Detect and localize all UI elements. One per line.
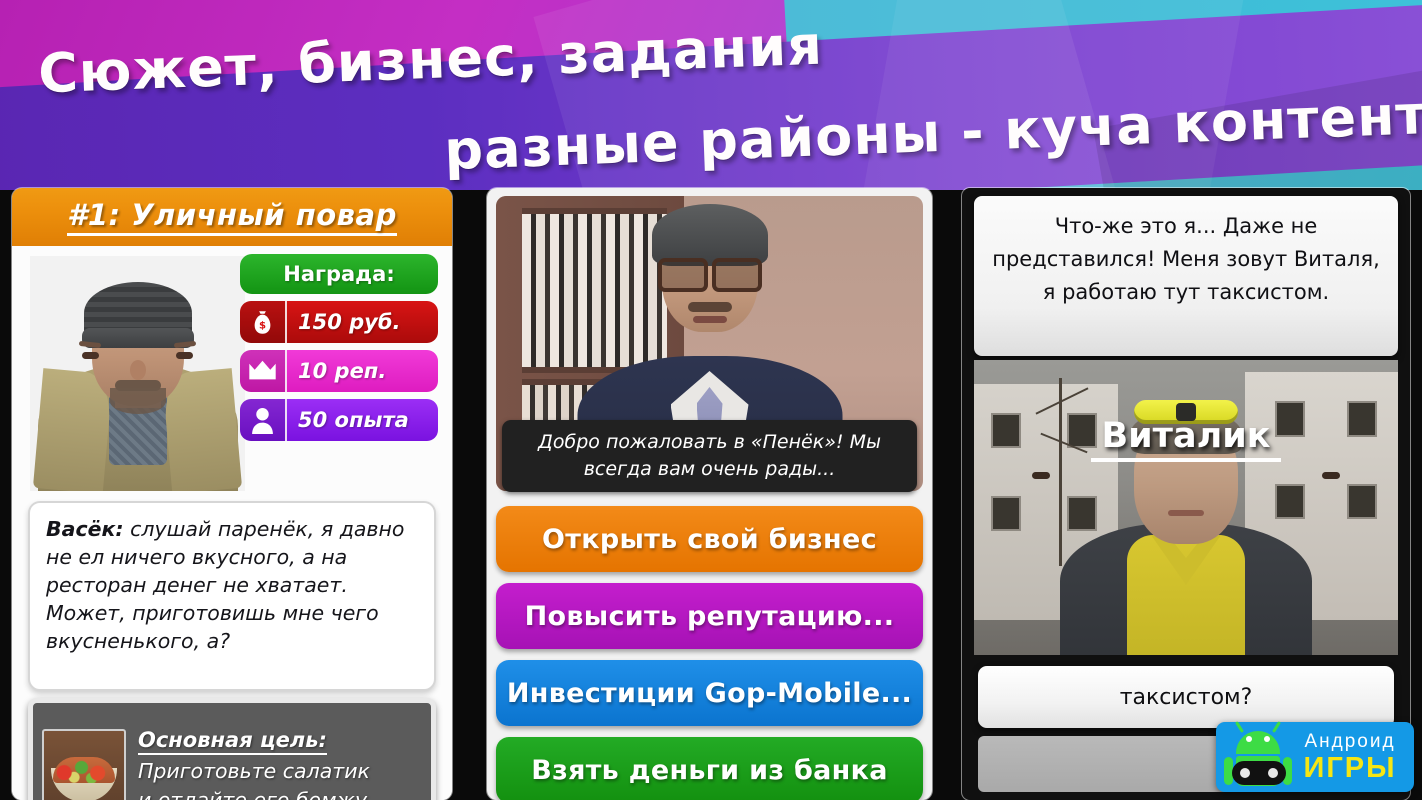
window <box>1275 484 1305 519</box>
banker-mouth <box>693 316 727 323</box>
character-nose <box>130 360 146 380</box>
character-beard <box>110 388 166 414</box>
quest-dialogue-speaker: Васёк: <box>46 517 124 541</box>
window <box>1347 484 1377 519</box>
bookshelf-row-1 <box>522 208 667 373</box>
banker-moustache <box>688 302 732 312</box>
reward-row-experience: 50 опыта <box>240 399 438 441</box>
reward-value-money: 150 руб. <box>287 310 438 334</box>
salad-bowl-icon <box>42 729 126 800</box>
reward-row-money: $ 150 руб. <box>240 301 438 343</box>
reward-value-reputation: 10 реп. <box>287 359 438 383</box>
watermark-line1: Андроид <box>1294 732 1406 751</box>
window <box>991 496 1021 531</box>
taxi-driver-photo <box>974 360 1398 655</box>
screenshot-panels: #1: Уличный повар <box>0 188 1422 800</box>
quest-goal-box: Основная цель: Приготовьте салатик и отд… <box>28 698 436 800</box>
taxi-panel-frame: Что-же это я... Даже не представился! Ме… <box>962 188 1410 800</box>
character-brow-left <box>79 341 101 348</box>
open-business-button[interactable]: Открыть свой бизнес <box>496 506 923 572</box>
android-robot-icon <box>1222 727 1294 787</box>
tree <box>1059 378 1062 567</box>
business-dialogue-bar: Добро пожаловать в «Пенёк»! Мы всегда ва… <box>502 420 917 492</box>
quest-goal-text: Основная цель: Приготовьте салатик и отд… <box>126 728 422 800</box>
watermark-line2: ИГРЫ <box>1294 754 1406 783</box>
antenna-right <box>1272 721 1281 733</box>
quest-panel-frame: #1: Уличный повар <box>12 188 452 800</box>
quest-body: Награда: $ 150 руб. <box>12 246 452 800</box>
quest-character-photo <box>30 256 245 491</box>
robot-head <box>1236 731 1280 754</box>
promo-banner: Сюжет, бизнес, задания разные районы - к… <box>0 0 1422 190</box>
antenna-left <box>1235 721 1244 733</box>
taxi-dialogue-bottom: таксистом? <box>978 666 1394 728</box>
quest-title-banner: #1: Уличный повар <box>12 188 452 246</box>
reward-row-reputation: 10 реп. <box>240 350 438 392</box>
character-eye-right <box>176 352 193 359</box>
quest-panel: #1: Уличный повар <box>12 188 452 800</box>
banker-hair <box>652 204 768 266</box>
quest-goal-line2: и отдайте его бомжу <box>138 787 422 800</box>
taxi-driver-panel: Что-же это я... Даже не представился! Ме… <box>962 188 1410 800</box>
character-eye-left <box>82 352 99 359</box>
driver-eye-right <box>1322 472 1340 479</box>
raise-reputation-button[interactable]: Повысить репутацию... <box>496 583 923 649</box>
reward-header: Награда: <box>240 254 438 294</box>
withdraw-bank-money-button[interactable]: Взять деньги из банка <box>496 737 923 800</box>
quest-title: #1: Уличный повар <box>67 198 397 236</box>
business-panel-frame: Добро пожаловать в «Пенёк»! Мы всегда ва… <box>487 188 932 800</box>
screenshot-stage: Сюжет, бизнес, задания разные районы - к… <box>0 0 1422 800</box>
character-name: Виталик <box>1091 416 1280 462</box>
reward-list: Награда: $ 150 руб. <box>240 254 438 448</box>
reward-value-experience: 50 опыта <box>287 408 438 432</box>
driver-eye-left <box>1032 472 1050 479</box>
watermark-logo: Андроид ИГРЫ <box>1216 722 1414 792</box>
glasses-icon <box>658 258 762 284</box>
gamepad-icon <box>1232 761 1286 785</box>
money-bag-icon: $ <box>240 301 287 343</box>
salad-shape <box>53 757 115 783</box>
character-name-plate: Виталик <box>962 416 1410 462</box>
quest-goal-title: Основная цель: <box>138 728 327 755</box>
svg-text:$: $ <box>259 320 266 331</box>
business-menu-list: Открыть свой бизнес Повысить репутацию..… <box>496 506 923 800</box>
watermark-text: Андроид ИГРЫ <box>1294 732 1406 783</box>
invest-gop-mobile-button[interactable]: Инвестиции Gop-Mobile... <box>496 660 923 726</box>
driver-polo-shirt <box>1127 535 1245 655</box>
crown-icon <box>240 350 287 392</box>
taxi-dialogue-top: Что-же это я... Даже не представился! Ме… <box>974 196 1398 356</box>
window <box>1067 496 1097 531</box>
quest-dialogue-box: Васёк: слушай паренёк, я давно не ел нич… <box>28 501 436 691</box>
quest-goal-line1: Приготовьте салатик <box>138 758 422 784</box>
driver-mouth <box>1168 510 1204 516</box>
business-menu-panel: Добро пожаловать в «Пенёк»! Мы всегда ва… <box>487 188 932 800</box>
person-icon <box>240 399 287 441</box>
